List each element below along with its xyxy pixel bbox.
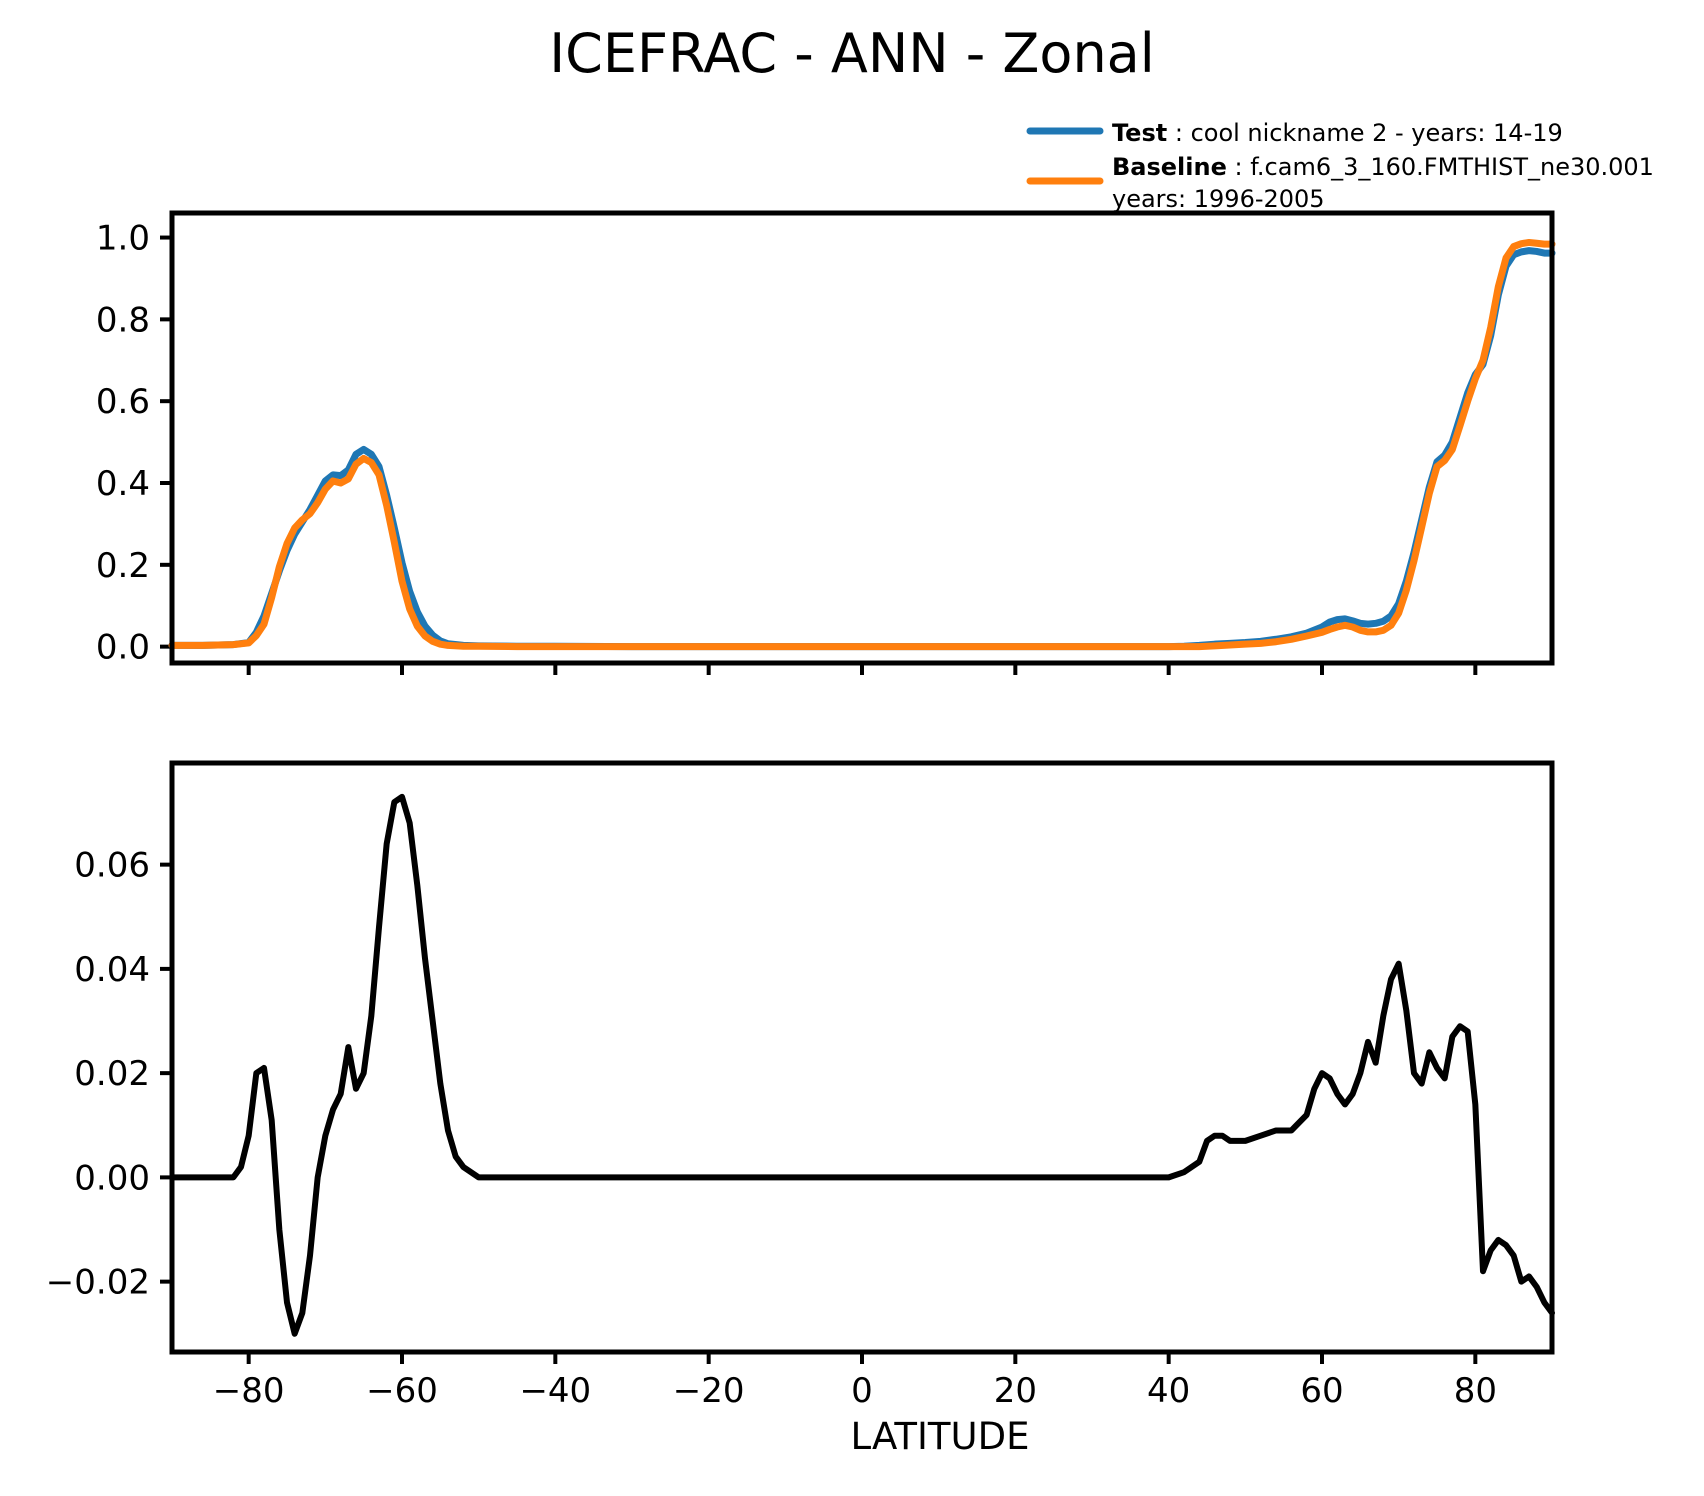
- x-tick-label: 20: [994, 1371, 1037, 1411]
- y-tick-label: 0.8: [96, 300, 150, 340]
- legend-test-desc: cool nickname 2 - years: 14-19: [1191, 119, 1563, 147]
- page-title: ICEFRAC - ANN - Zonal: [549, 22, 1155, 85]
- x-tick-label: 60: [1300, 1371, 1343, 1411]
- figure-container: ICEFRAC - ANN - Zonal Test : cool nickna…: [0, 0, 1704, 1496]
- legend-baseline-years: years: 1996-2005: [1112, 185, 1325, 213]
- y-tick-label: 1.0: [96, 219, 150, 259]
- y-tick-label: 0.4: [96, 464, 150, 504]
- x-tick-label: −80: [213, 1371, 285, 1411]
- legend-test-sep: :: [1167, 119, 1190, 147]
- x-tick-label: 40: [1147, 1371, 1190, 1411]
- x-tick-label: −20: [673, 1371, 745, 1411]
- x-axis-label: LATITUDE: [851, 1415, 1030, 1458]
- y-tick-label: −0.02: [46, 1263, 150, 1303]
- y-tick-label: 0.2: [96, 546, 150, 586]
- y-tick-label: 0.04: [74, 950, 150, 990]
- main-plot-background: [172, 213, 1552, 663]
- legend-test-name: Test: [1112, 119, 1167, 147]
- difference-plot-background: [172, 763, 1552, 1352]
- x-tick-label: 80: [1454, 1371, 1497, 1411]
- x-tick-label: 0: [851, 1371, 873, 1411]
- panel-difference: −0.020.000.020.040.06 −80−60−40−20020406…: [46, 763, 1552, 1411]
- legend-baseline-name: Baseline: [1112, 153, 1227, 181]
- y-tick-label: 0.6: [96, 382, 150, 422]
- legend-baseline-sep: :: [1227, 153, 1250, 181]
- x-tick-label: −60: [366, 1371, 438, 1411]
- y-tick-label: 0.02: [74, 1054, 150, 1094]
- legend-baseline-desc: f.cam6_3_160.FMTHIST_ne30.001: [1250, 153, 1654, 181]
- y-tick-label: 0.0: [96, 628, 150, 668]
- zonal-mean-plot: ICEFRAC - ANN - Zonal Test : cool nickna…: [0, 0, 1704, 1496]
- y-tick-label: 0.00: [74, 1158, 150, 1198]
- y-tick-label: 0.06: [74, 846, 150, 886]
- legend-entry-baseline: Baseline : f.cam6_3_160.FMTHIST_ne30.001: [1112, 153, 1654, 181]
- legend-entry-test: Test : cool nickname 2 - years: 14-19: [1112, 119, 1563, 147]
- x-tick-label: −40: [519, 1371, 591, 1411]
- panel-main: 0.00.20.40.60.81.0: [96, 213, 1552, 675]
